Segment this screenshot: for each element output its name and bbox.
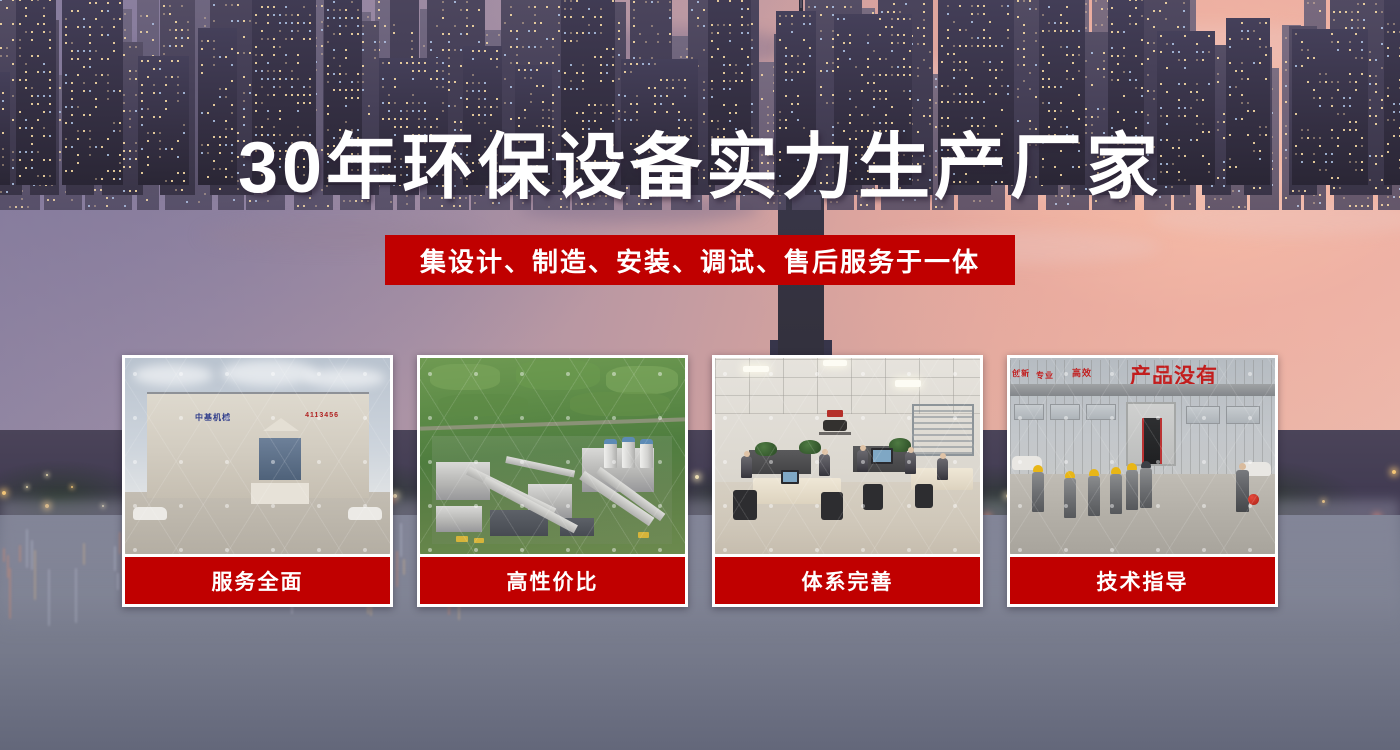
- feature-card[interactable]: 产品没有 高效 专业 创新: [1007, 355, 1278, 607]
- feature-card[interactable]: 体系完善: [712, 355, 983, 607]
- production-plant-aerial-photo: [420, 358, 685, 554]
- hero-banner: 30年环保设备实力生产厂家 集设计、制造、安装、调试、售后服务于一体 中基机械 …: [0, 0, 1400, 750]
- feature-card-row: 中基机械 4113456 服务全面: [122, 355, 1278, 607]
- subtitle-text: 集设计、制造、安装、调试、售后服务于一体: [420, 242, 980, 279]
- workshop-training-photo: 产品没有 高效 专业 创新: [1010, 358, 1275, 554]
- office-interior-photo: [715, 358, 980, 554]
- feature-card[interactable]: 中基机械 4113456 服务全面: [122, 355, 393, 607]
- page-title: 30年环保设备实力生产厂家: [0, 132, 1400, 204]
- wall-slogan-2: 专业: [1036, 370, 1054, 381]
- company-headquarters-photo: 中基机械 4113456: [125, 358, 390, 554]
- feature-card-label: 技术指导: [1010, 557, 1275, 604]
- feature-card-label: 体系完善: [715, 557, 980, 604]
- feature-card-label: 服务全面: [125, 557, 390, 604]
- subtitle-banner: 集设计、制造、安装、调试、售后服务于一体: [385, 235, 1015, 285]
- wall-slogan-1: 高效: [1072, 366, 1092, 379]
- tower-antenna-tip: [800, 0, 802, 8]
- feature-card-label: 高性价比: [420, 557, 685, 604]
- feature-card[interactable]: 高性价比: [417, 355, 688, 607]
- building-phone-text: 4113456: [305, 412, 339, 419]
